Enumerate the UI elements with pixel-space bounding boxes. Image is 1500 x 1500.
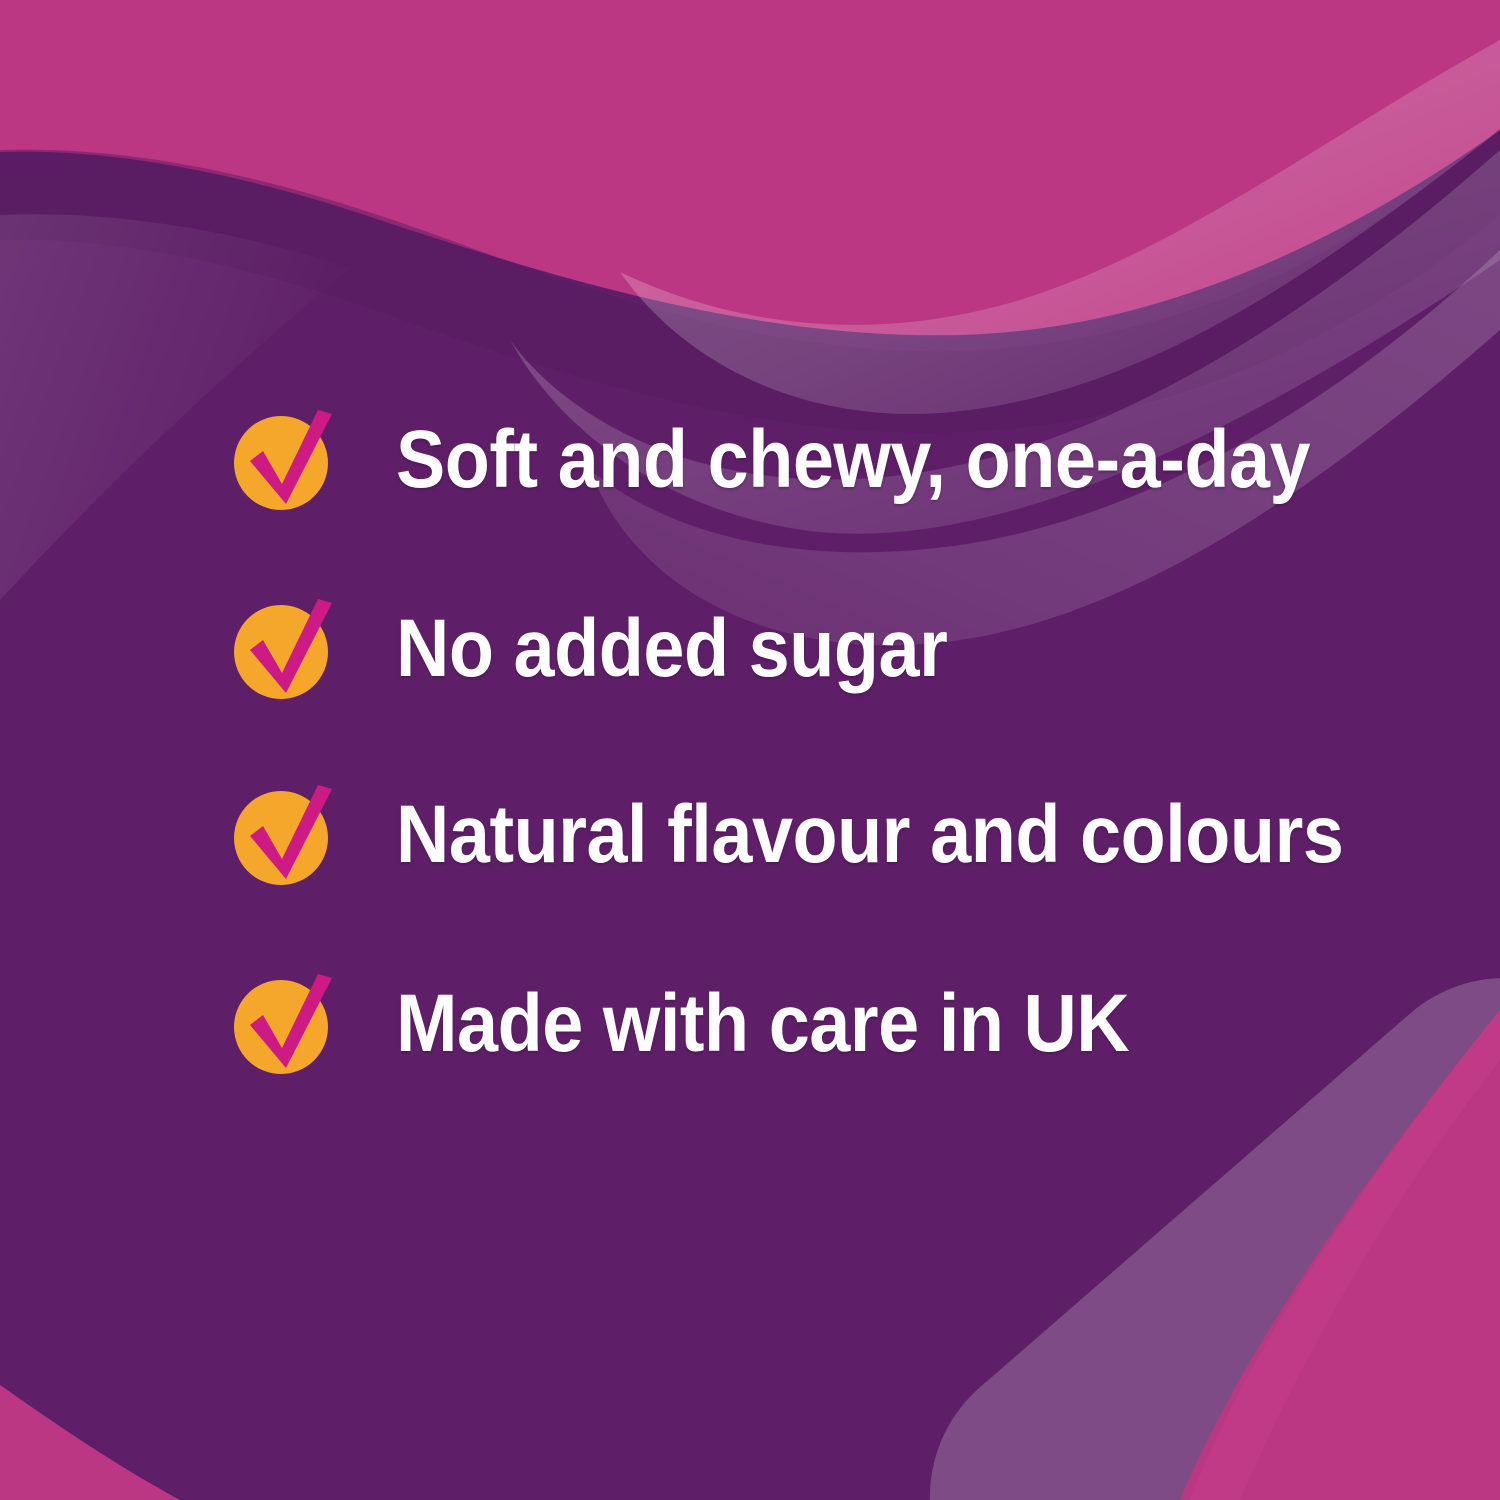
benefit-row-2: No added sugar <box>232 597 1009 701</box>
benefit-row-4: Made with care in UK <box>232 972 1211 1076</box>
benefit-row-1: Soft and chewy, one-a-day <box>232 408 1412 512</box>
benefits-list: Soft and chewy, one-a-day No added sugar… <box>0 0 1500 1500</box>
checkmark-circle-icon <box>232 783 336 887</box>
checkmark-circle-icon <box>232 408 336 512</box>
benefit-label: Made with care in UK <box>396 983 1129 1065</box>
benefit-label: No added sugar <box>396 608 947 690</box>
benefit-label: Soft and chewy, one-a-day <box>396 419 1310 501</box>
checkmark-circle-icon <box>232 597 336 701</box>
benefit-row-3: Natural flavour and colours <box>232 783 1449 887</box>
checkmark-circle-icon <box>232 972 336 1076</box>
product-benefits-banner: Soft and chewy, one-a-day No added sugar… <box>0 0 1500 1500</box>
benefit-label: Natural flavour and colours <box>396 794 1343 876</box>
